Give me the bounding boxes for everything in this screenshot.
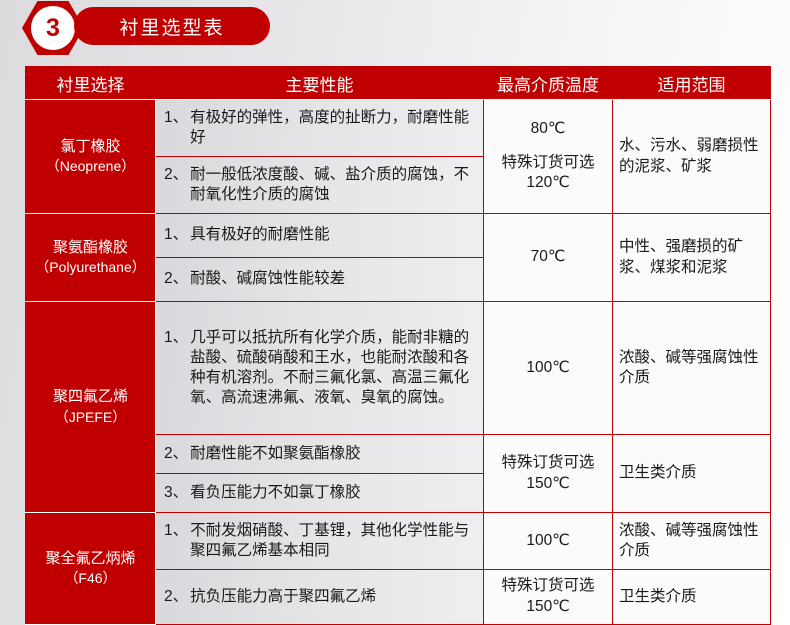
page-title: 衬里选型表 bbox=[119, 13, 224, 40]
item-text: 几乎可以抵抗所有化学介质，能耐非糖的盐酸、硫酸硝酸和王水，也能耐浓酸和各种有机溶… bbox=[190, 328, 477, 409]
performance-cell: 1、 有极好的弹性，高度的扯断力，耐磨性能好 bbox=[156, 100, 484, 157]
lining-name-cn: 聚氨酯橡胶 bbox=[26, 238, 155, 258]
temperature-cell: 100℃ bbox=[484, 302, 613, 435]
temperature-note: 特殊订货可选 bbox=[487, 576, 609, 597]
temperature-cell: 70℃ bbox=[484, 214, 613, 302]
lining-name-cn: 聚四氟乙烯 bbox=[26, 387, 155, 407]
table-row: 聚氨酯橡胶 （Polyurethane） 1、 具有极好的耐磨性能 70℃ 中性… bbox=[26, 214, 771, 258]
temperature-main: 100℃ bbox=[487, 358, 609, 379]
temperature-cell: 80℃ 特殊订货可选 120℃ bbox=[484, 100, 613, 214]
item-text: 抗负压能力高于聚四氟乙烯 bbox=[190, 587, 477, 607]
lining-name-en: （Neoprene） bbox=[26, 157, 155, 176]
item-marker: 2、 bbox=[164, 444, 190, 464]
item-marker: 1、 bbox=[164, 328, 190, 409]
item-marker: 1、 bbox=[164, 108, 190, 148]
lining-cell-polyurethane: 聚氨酯橡胶 （Polyurethane） bbox=[26, 214, 156, 302]
column-header-application-scope: 适用范围 bbox=[613, 67, 771, 100]
scope-cell: 浓酸、碱等强腐蚀性介质 bbox=[613, 513, 771, 570]
item-text: 耐一般低浓度酸、碱、盐介质的腐蚀，不耐氧化性介质的腐蚀 bbox=[190, 165, 477, 205]
temperature-cell: 100℃ bbox=[484, 513, 613, 570]
performance-cell: 2、 耐酸、碱腐蚀性能较差 bbox=[156, 258, 484, 302]
temperature-cell: 特殊订货可选 150℃ bbox=[484, 570, 613, 625]
temperature-note-value: 150℃ bbox=[487, 474, 609, 495]
temperature-main: 70℃ bbox=[487, 247, 609, 268]
scope-cell: 中性、强磨损的矿浆、煤浆和泥浆 bbox=[613, 214, 771, 302]
item-text: 有极好的弹性，高度的扯断力，耐磨性能好 bbox=[190, 108, 477, 148]
temperature-note: 特殊订货可选 bbox=[487, 453, 609, 474]
performance-cell: 2、 耐一般低浓度酸、碱、盐介质的腐蚀，不耐氧化性介质的腐蚀 bbox=[156, 157, 484, 214]
lining-name-en: （Polyurethane） bbox=[26, 258, 155, 277]
performance-cell: 1、 几乎可以抵抗所有化学介质，能耐非糖的盐酸、硫酸硝酸和王水，也能耐浓酸和各种… bbox=[156, 302, 484, 435]
table-row: 聚四氟乙烯 （JPEFE） 1、 几乎可以抵抗所有化学介质，能耐非糖的盐酸、硫酸… bbox=[26, 302, 771, 435]
performance-cell: 1、 不耐发烟硝酸、丁基锂，其他化学性能与聚四氟乙烯基本相同 bbox=[156, 513, 484, 570]
performance-cell: 1、 具有极好的耐磨性能 bbox=[156, 214, 484, 258]
scope-cell: 浓酸、碱等强腐蚀性介质 bbox=[613, 302, 771, 435]
lining-name-cn: 聚全氟乙炳烯 bbox=[26, 549, 155, 569]
item-marker: 1、 bbox=[164, 521, 190, 561]
temperature-note-value: 120℃ bbox=[487, 173, 609, 194]
badge-number: 3 bbox=[31, 6, 75, 50]
scope-cell: 水、污水、弱磨损性的泥浆、矿浆 bbox=[613, 100, 771, 214]
item-text: 不耐发烟硝酸、丁基锂，其他化学性能与聚四氟乙烯基本相同 bbox=[190, 521, 477, 561]
temperature-note: 特殊订货可选 bbox=[487, 153, 609, 174]
temperature-cell: 特殊订货可选 150℃ bbox=[484, 435, 613, 513]
lining-name-en: （JPEFE） bbox=[26, 408, 155, 427]
scope-cell: 卫生类介质 bbox=[613, 570, 771, 625]
column-header-max-temperature: 最高介质温度 bbox=[484, 67, 613, 100]
temperature-main: 100℃ bbox=[487, 531, 609, 552]
lining-cell-f46: 聚全氟乙炳烯 （F46） bbox=[26, 513, 156, 625]
item-text: 耐酸、碱腐蚀性能较差 bbox=[190, 269, 477, 289]
table-row: 聚全氟乙炳烯 （F46） 1、 不耐发烟硝酸、丁基锂，其他化学性能与聚四氟乙烯基… bbox=[26, 513, 771, 570]
column-header-performance: 主要性能 bbox=[156, 67, 484, 100]
column-header-lining: 衬里选择 bbox=[26, 67, 156, 100]
page-header-banner: 3 衬里选型表 bbox=[0, 0, 790, 58]
lining-cell-neoprene: 氯丁橡胶 （Neoprene） bbox=[26, 100, 156, 214]
item-marker: 3、 bbox=[164, 483, 190, 503]
page-title-pill: 衬里选型表 bbox=[74, 7, 270, 45]
table-header-row: 衬里选择 主要性能 最高介质温度 适用范围 bbox=[26, 67, 771, 100]
lining-name-cn: 氯丁橡胶 bbox=[26, 137, 155, 157]
performance-cell: 2、 抗负压能力高于聚四氟乙烯 bbox=[156, 570, 484, 625]
scope-cell: 卫生类介质 bbox=[613, 435, 771, 513]
item-text: 耐磨性能不如聚氨酯橡胶 bbox=[190, 444, 477, 464]
item-marker: 2、 bbox=[164, 269, 190, 289]
lining-selection-table: 衬里选择 主要性能 最高介质温度 适用范围 氯丁橡胶 （Neoprene） 1、… bbox=[25, 66, 771, 625]
item-marker: 2、 bbox=[164, 587, 190, 607]
temperature-note-value: 150℃ bbox=[487, 597, 609, 618]
performance-cell: 3、 看负压能力不如氯丁橡胶 bbox=[156, 474, 484, 513]
item-marker: 2、 bbox=[164, 165, 190, 205]
item-marker: 1、 bbox=[164, 225, 190, 245]
temperature-main: 80℃ bbox=[487, 119, 609, 140]
lining-name-en: （F46） bbox=[26, 569, 155, 588]
item-text: 具有极好的耐磨性能 bbox=[190, 225, 477, 245]
lining-cell-jpefe: 聚四氟乙烯 （JPEFE） bbox=[26, 302, 156, 513]
performance-cell: 2、 耐磨性能不如聚氨酯橡胶 bbox=[156, 435, 484, 474]
item-text: 看负压能力不如氯丁橡胶 bbox=[190, 483, 477, 503]
table-row: 氯丁橡胶 （Neoprene） 1、 有极好的弹性，高度的扯断力，耐磨性能好 8… bbox=[26, 100, 771, 157]
